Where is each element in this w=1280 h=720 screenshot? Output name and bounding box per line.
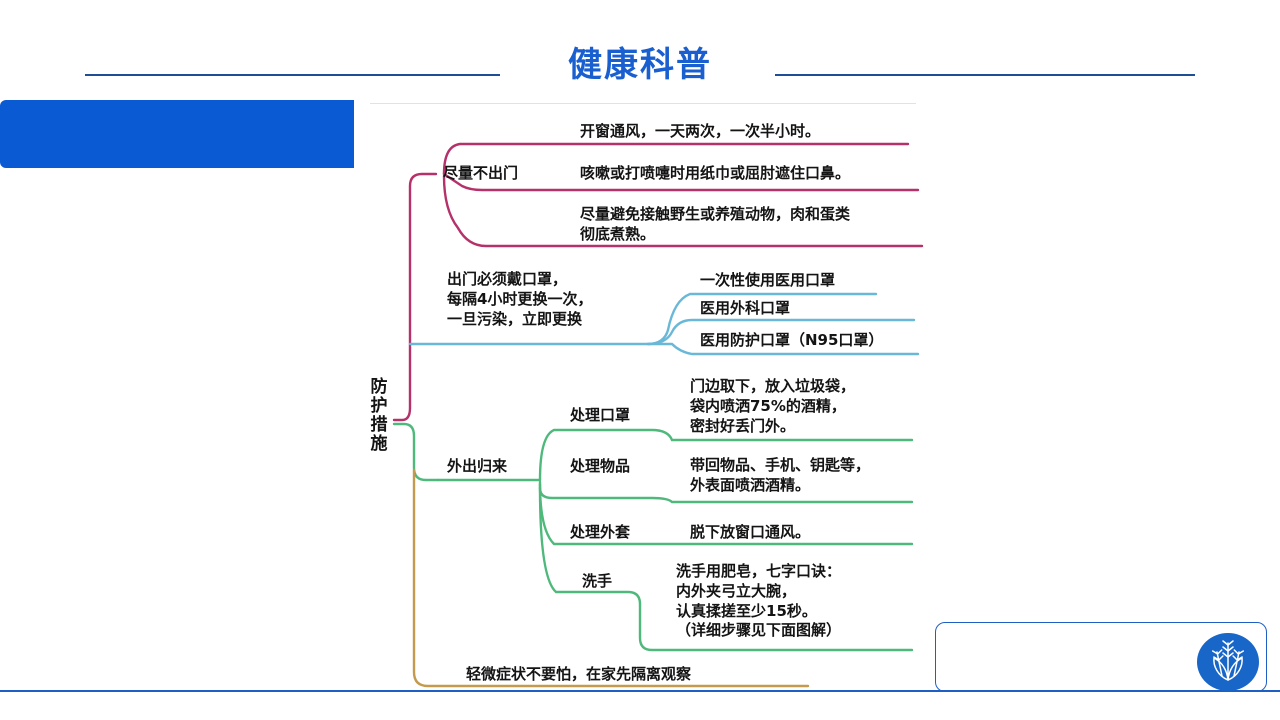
- leaf-surgical-mask: 医用外科口罩: [700, 299, 790, 319]
- leaf-cover-cough: 咳嗽或打喷嚏时用纸巾或屈肘遮住口鼻。: [580, 164, 850, 184]
- slide-canvas: 健康科普: [0, 0, 1280, 720]
- branch-label-stay-home: 尽量不出门: [443, 164, 518, 184]
- branch-label-wear-mask: 出门必须戴口罩， 每隔4小时更换一次， 一旦污染，立即更换: [447, 270, 592, 329]
- wheat-emblem-logo: [1196, 630, 1260, 694]
- leaf-disposable-medical-mask: 一次性使用医用口罩: [700, 271, 835, 291]
- leaf-wash-hands-detail: 洗手用肥皂，七字口诀： 内外夹弓立大腕， 认真揉搓至少15秒。 （详细步骤见下面…: [676, 562, 841, 641]
- branch-label-mild-symptoms: 轻微症状不要怕，在家先隔离观察: [466, 665, 691, 685]
- mindmap-connectors: [0, 0, 1280, 720]
- branch-label-return-home: 外出归来: [447, 457, 507, 477]
- leaf-n95-mask: 医用防护口罩（N95口罩）: [700, 331, 883, 351]
- leaf-ventilation: 开窗通风，一天两次，一次半小时。: [580, 122, 820, 142]
- footer-rule: [0, 690, 1280, 692]
- sub-label-wash-hands: 洗手: [582, 572, 612, 592]
- sub-label-handle-coat: 处理外套: [570, 523, 630, 543]
- sub-label-handle-mask: 处理口罩: [570, 406, 630, 426]
- mindmap-root-label: 防护措施: [368, 378, 390, 454]
- leaf-handle-mask-detail: 门边取下，放入垃圾袋， 袋内喷洒75%的酒精， 密封好丢门外。: [690, 377, 855, 436]
- sub-label-handle-items: 处理物品: [570, 457, 630, 477]
- leaf-handle-items-detail: 带回物品、手机、钥匙等， 外表面喷洒酒精。: [690, 456, 870, 496]
- leaf-handle-coat-detail: 脱下放窗口通风。: [690, 523, 810, 543]
- leaf-avoid-animals: 尽量避免接触野生或养殖动物，肉和蛋类 彻底煮熟。: [580, 205, 850, 245]
